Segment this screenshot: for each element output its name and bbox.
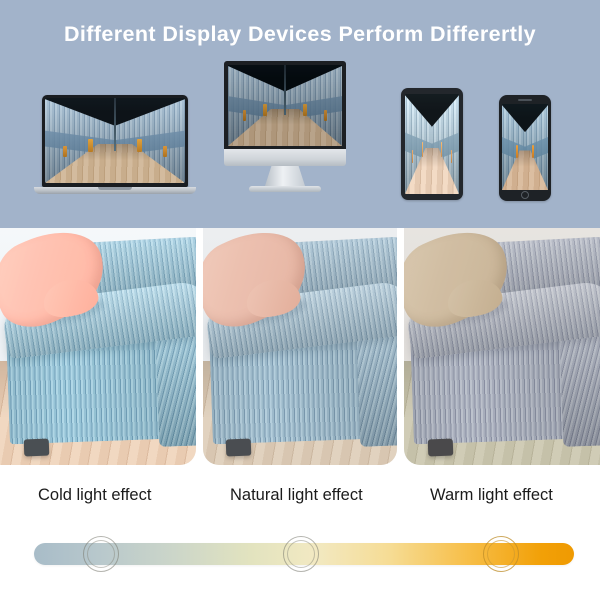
monitor-stand-neck (265, 166, 305, 186)
photo-center-seam (432, 94, 433, 156)
sofa-foot (427, 439, 453, 456)
comparison-photo-warm (404, 228, 600, 465)
sofa-scene (203, 228, 397, 465)
laptop-hinge-notch (98, 187, 132, 190)
phone-screen-photo (502, 104, 548, 190)
photo-tag-left (263, 104, 267, 116)
tablet-screen (405, 94, 459, 194)
slider-handle-natural[interactable] (283, 536, 319, 572)
comparison-labels: Cold light effect Natural light effect W… (0, 486, 600, 516)
monitor-screen-photo (228, 65, 342, 146)
laptop-lid (42, 95, 188, 187)
sofa-scene (404, 228, 600, 465)
laptop-screen (45, 98, 185, 183)
photo-tag-left (516, 145, 517, 158)
phone-body (499, 95, 551, 201)
monitor-bezel (224, 61, 346, 149)
slider-handle-warm[interactable] (483, 536, 519, 572)
infographic-page: Different Display Devices Perform Differ… (0, 0, 600, 600)
photo-tag-right (441, 142, 443, 157)
color-temperature-slider[interactable] (0, 534, 600, 574)
photo-tag-left (88, 139, 92, 152)
laptop-base (34, 187, 196, 194)
photo-center-seam (525, 104, 526, 157)
photo-tag-left-far (63, 146, 67, 157)
photo-tag-right (532, 145, 533, 158)
laptop-screen-photo (45, 98, 185, 183)
comparison-photo-cold (0, 228, 196, 465)
sofa-scene (0, 228, 196, 465)
photo-tag-right (137, 139, 141, 152)
photo-tag-left-far (243, 110, 246, 121)
phone-speaker-icon (518, 99, 532, 101)
comparison-photo-natural (203, 228, 397, 465)
photo-tag-right-far (324, 110, 327, 121)
comparison-photo-row (0, 228, 600, 465)
device-phone (499, 95, 551, 201)
device-desktop-monitor (224, 61, 346, 192)
device-laptop (42, 95, 188, 194)
tablet-body (401, 88, 463, 200)
tablet-screen-photo (405, 94, 459, 194)
slider-handle-cold[interactable] (83, 536, 119, 572)
label-warm-light-effect: Warm light effect (430, 486, 553, 505)
phone-screen (502, 104, 548, 190)
photo-center-seam (284, 65, 285, 115)
monitor-stand-foot (249, 186, 321, 192)
device-row (0, 56, 600, 206)
photo-tag-right-far (451, 150, 452, 163)
label-cold-light-effect: Cold light effect (38, 486, 151, 505)
sofa-foot (226, 439, 252, 456)
phone-home-button-icon (521, 191, 529, 199)
monitor-chin (224, 149, 346, 166)
label-natural-light-effect: Natural light effect (230, 486, 363, 505)
sofa-foot (23, 439, 49, 456)
photo-tag-right (303, 104, 307, 116)
photo-center-seam (114, 98, 116, 151)
monitor-screen (228, 65, 342, 146)
page-title: Different Display Devices Perform Differ… (0, 22, 600, 47)
photo-tag-right-far (163, 146, 167, 157)
device-tablet (401, 88, 463, 200)
